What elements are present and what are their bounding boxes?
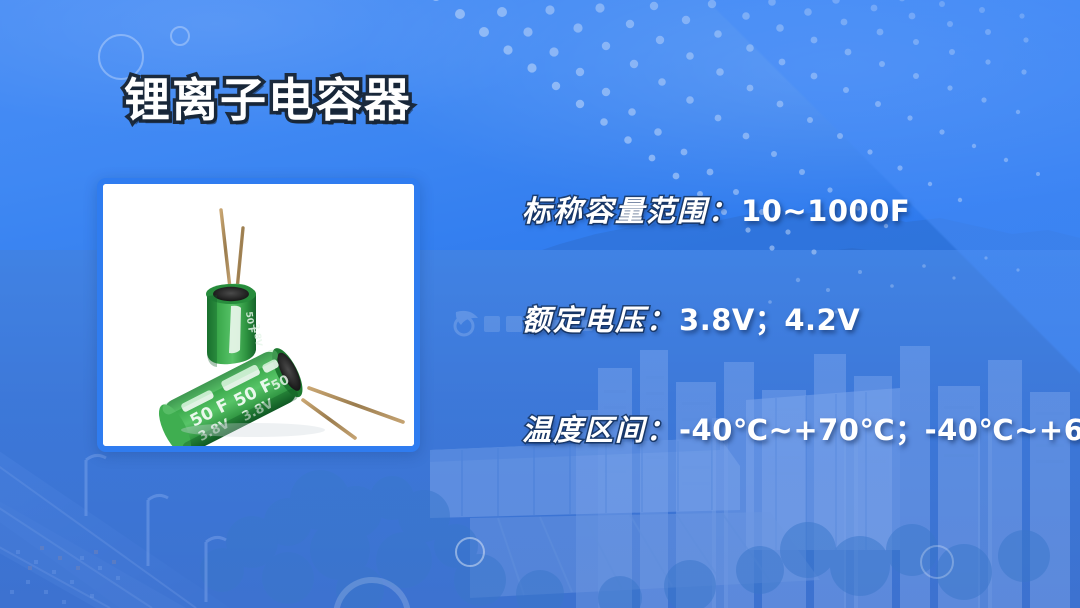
- spec-label-temperature: 温度区间：: [522, 413, 677, 447]
- spec-value-capacity: 10~1000F: [741, 194, 910, 228]
- halftone-dot-fan: [430, 0, 1050, 320]
- slide-canvas: 锂离子电容器: [0, 0, 1080, 608]
- spec-value-temperature: -40℃~+70℃；-40℃~+65℃: [679, 413, 1080, 447]
- spec-line-capacity: 标称容量范围：10~1000F: [522, 197, 910, 226]
- spec-line-temperature: 温度区间：-40℃~+70℃；-40℃~+65℃: [522, 416, 1080, 445]
- spec-label-capacity: 标称容量范围：: [522, 194, 739, 228]
- decorative-ring-right: [920, 545, 954, 579]
- spec-line-voltage: 额定电压：3.8V；4.2V: [522, 306, 860, 335]
- spec-value-voltage: 3.8V；4.2V: [679, 303, 860, 337]
- product-image-card: 50 F 3.8V 50 F 3.8V: [97, 178, 420, 452]
- page-title: 锂离子电容器: [124, 64, 412, 130]
- decorative-ring-small: [170, 26, 190, 46]
- decorative-ring-center: [455, 537, 485, 567]
- spec-label-voltage: 额定电压：: [522, 303, 677, 337]
- lithium-ion-capacitor-photo: 50 F 3.8V 50 F 3.8V: [103, 184, 414, 446]
